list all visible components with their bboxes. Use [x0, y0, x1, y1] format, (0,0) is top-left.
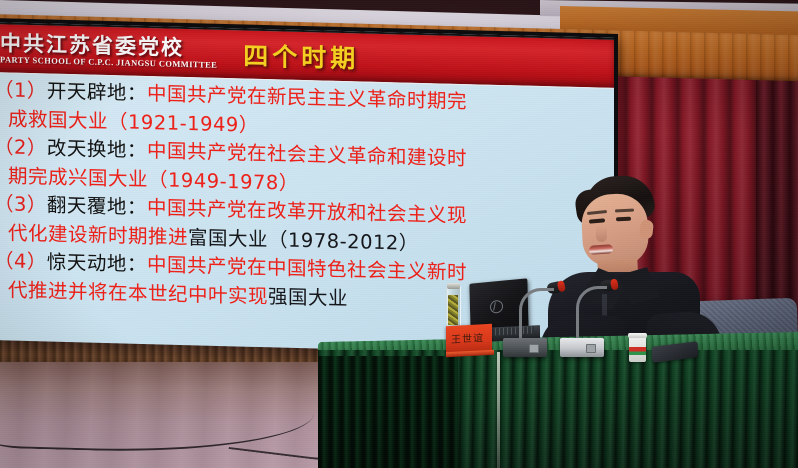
microphone-button[interactable] [529, 344, 539, 353]
line-body: 代化建设新时期推进 [8, 221, 188, 249]
line-body: 中国共产党在中国特色社会主义新时 [147, 253, 467, 284]
speaker-eye-right [616, 217, 631, 222]
speaker-ear [639, 219, 654, 239]
microphone-button[interactable] [586, 344, 596, 353]
party-school-logo: 中共江苏省委党校 PARTY SCHOOL OF C.P.C. JIANGSU … [0, 32, 217, 69]
head-table-fold-edge [497, 352, 500, 468]
line-body: 代推进并将在本世纪中叶实现 [8, 278, 268, 308]
microphone-gooseneck [576, 286, 607, 343]
microphone-base [560, 338, 604, 357]
slide-title: 四个时期 [243, 36, 359, 75]
line-body: 中国共产党在社会主义革命和建设时 [147, 139, 467, 170]
microphone-gooseneck [519, 288, 554, 343]
microphone-base [503, 338, 547, 357]
thermos-lid [447, 283, 460, 289]
line-body: 中国共产党在改革开放和社会主义现 [147, 196, 467, 227]
name-placard: 王世谊 [446, 324, 492, 356]
line-body-black: 强国大业 [268, 285, 348, 310]
speaker-mouth [589, 244, 614, 255]
lecture-hall-photo: 中共江苏省委党校 PARTY SCHOOL OF C.P.C. JIANGSU … [0, 0, 798, 468]
name-placard-text: 王世谊 [451, 329, 484, 346]
paper-cup-band [629, 347, 646, 355]
thermos-tea-leaves [448, 295, 458, 325]
dell-logo-icon [490, 300, 503, 314]
head-table-skirt-left [318, 356, 458, 468]
line-number: （4） [0, 249, 47, 273]
name-placard-face: 王世谊 [446, 324, 492, 353]
line-number: （3） [0, 192, 47, 216]
line-lead: 惊天动地： [47, 250, 147, 276]
paper-cup-lid [628, 333, 647, 338]
line-body: 中国共产党在新民主主义革命时期完 [147, 82, 467, 113]
line-lead: 开天辟地： [47, 79, 147, 105]
line-body: 期完成兴国大业（1949-1978） [8, 164, 299, 194]
line-body-black: 富国大业（1978-2012） [188, 226, 419, 255]
line-lead: 改天换地： [47, 136, 147, 162]
line-number: （2） [0, 135, 47, 159]
line-body: 成救国大业（1921-1949） [8, 107, 259, 136]
line-lead: 翻天覆地： [47, 193, 147, 219]
paper-cup [629, 336, 646, 362]
line-number: （1） [0, 78, 47, 102]
speaker-nose [596, 226, 607, 242]
